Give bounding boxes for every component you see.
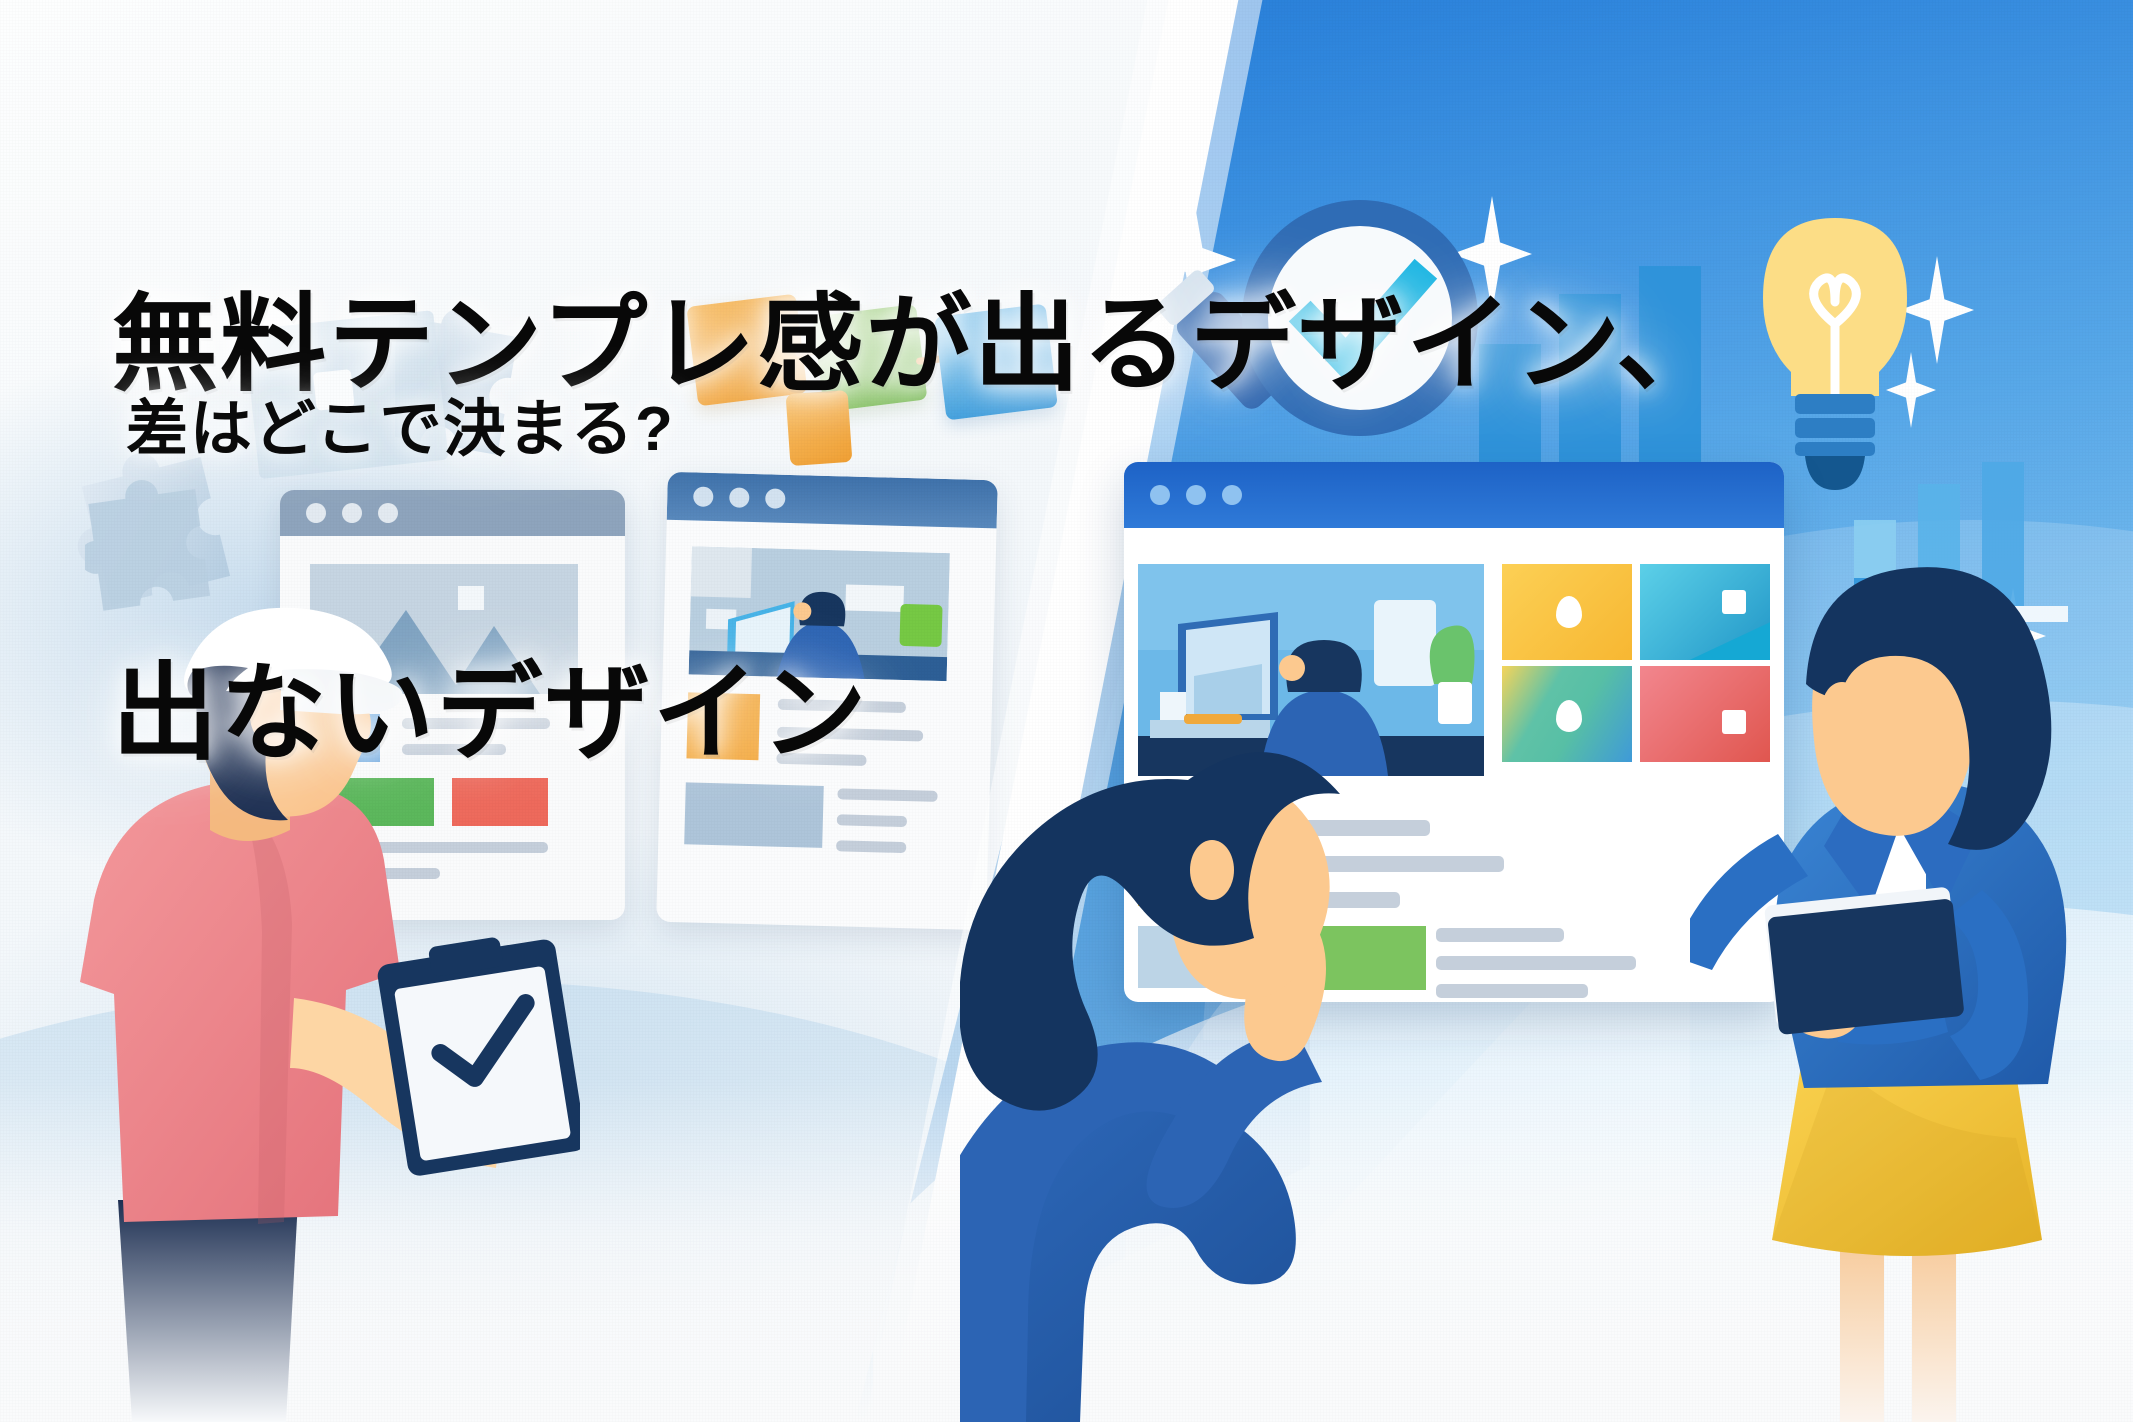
page-title: 無料テンプレ感が出るデザイン、 出ないデザイン — [112, 38, 1724, 1022]
lightbulb-base-1 — [1795, 394, 1875, 414]
lightbulb-icon — [1735, 212, 1935, 492]
lightbulb-base-2 — [1795, 418, 1875, 438]
hero-banner: 無料テンプレ感が出るデザイン、 出ないデザイン 差はどこで決まる? — [0, 0, 2133, 1422]
lightbulb-base-3 — [1795, 442, 1875, 456]
woman-presenting — [1690, 560, 2133, 1422]
page-title-line-2: 出ないデザイン — [112, 653, 1724, 776]
page-subtitle: 差はどこで決まる? — [126, 378, 675, 468]
closed-laptop-folder — [1764, 886, 1965, 1035]
lightbulb-cap — [1805, 456, 1865, 490]
man-pants — [118, 1200, 298, 1422]
woman-ear — [1822, 682, 1862, 734]
